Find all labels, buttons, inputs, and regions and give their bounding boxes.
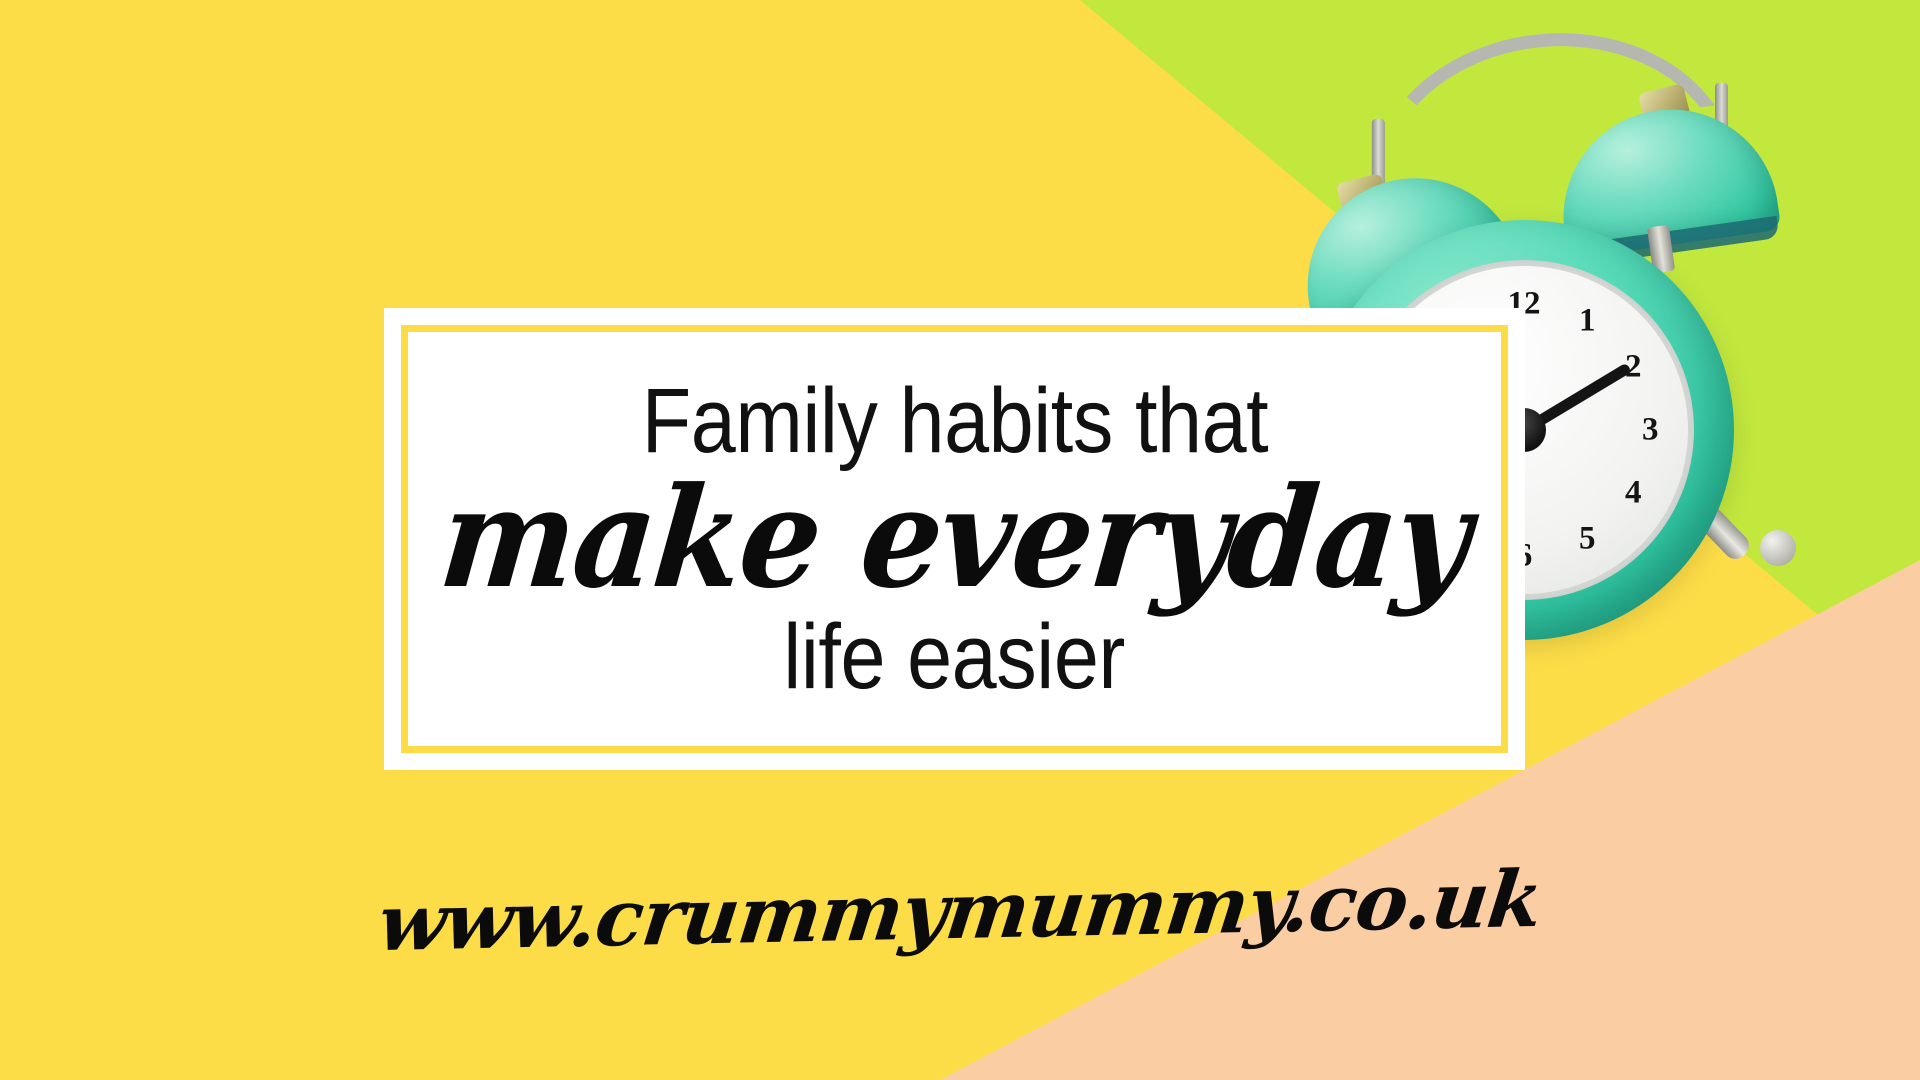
headline-card: Family habits that make everyday life ea… <box>384 308 1525 770</box>
clock-numeral-1: 1 <box>1564 304 1610 337</box>
clock-numeral-5: 5 <box>1564 523 1610 556</box>
headline-line-2: make everyday <box>435 475 1474 602</box>
clock-numeral-4: 4 <box>1610 477 1656 510</box>
clock-numeral-3: 3 <box>1627 414 1673 447</box>
headline-line-3: life easier <box>784 611 1126 703</box>
headline-line-1: Family habits that <box>641 375 1268 467</box>
clock-foot-cap-right <box>1760 530 1796 566</box>
headline-card-inner-border: Family habits that make everyday life ea… <box>401 325 1508 753</box>
pin-graphic-canvas: 12 1 2 3 4 5 6 7 8 9 10 11 <box>0 0 1920 1080</box>
